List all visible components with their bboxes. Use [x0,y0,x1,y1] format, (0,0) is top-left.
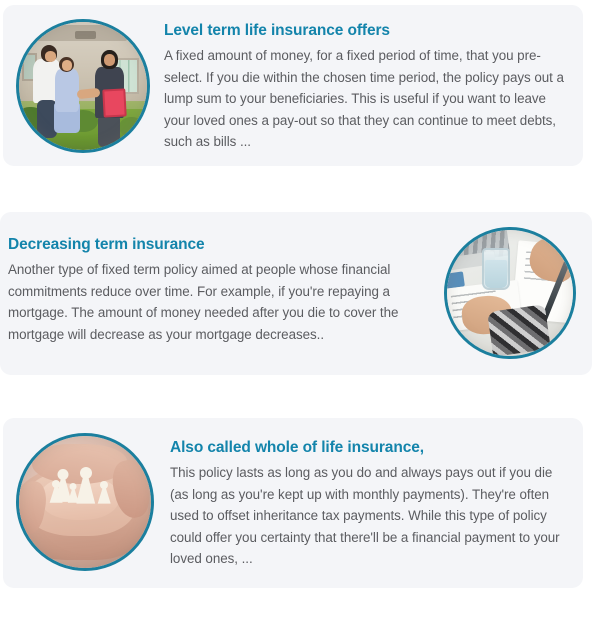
card-text-block-3: Also called whole of life insurance, Thi… [154,430,569,570]
card-title-level-term: Level term life insurance offers [164,21,569,40]
handshake-shape [76,87,100,98]
man-face-shape [45,51,57,61]
card-text-block-1: Level term life insurance offers A fixed… [150,17,569,153]
card-body-level-term: A fixed amount of money, for a fixed per… [164,45,569,153]
couple-meeting-insurance-agent-photo [16,19,150,153]
water-fill-shape [485,260,508,288]
hand-signing-documents-photo [444,227,576,359]
agent-face-shape [104,54,115,66]
card-body-whole-of-life: This policy lasts as long as you do and … [170,462,569,570]
paper-child-center [69,483,79,503]
hands-holding-paper-family-photo [16,433,154,571]
card-title-whole-of-life: Also called whole of life insurance, [170,438,569,457]
patterned-sleeve-shape [487,304,551,356]
paper-adult-right [78,467,93,504]
insurance-card-whole-of-life[interactable]: Also called whole of life insurance, Thi… [3,418,583,588]
paper-child-right [99,481,110,503]
card-text-block-2: Decreasing term insurance Another type o… [8,226,444,345]
photo-canvas-3 [19,436,151,568]
insurance-types-page: Level term life insurance offers A fixed… [0,0,600,618]
insurance-card-level-term[interactable]: Level term life insurance offers A fixed… [3,5,583,166]
photo-canvas-2 [447,230,573,356]
insurance-card-decreasing-term[interactable]: Decreasing term insurance Another type o… [0,212,592,375]
card-body-decreasing-term: Another type of fixed term policy aimed … [8,259,428,345]
roof-vent-shape [75,31,95,39]
woman-torso-shape [55,69,79,111]
woman-face-shape [62,60,72,70]
pink-folder-shape [103,88,127,117]
photo-canvas-1 [19,22,147,150]
agent-legs-shape [98,114,120,147]
card-title-decreasing-term: Decreasing term insurance [8,235,428,254]
paper-family-chain [51,465,120,510]
